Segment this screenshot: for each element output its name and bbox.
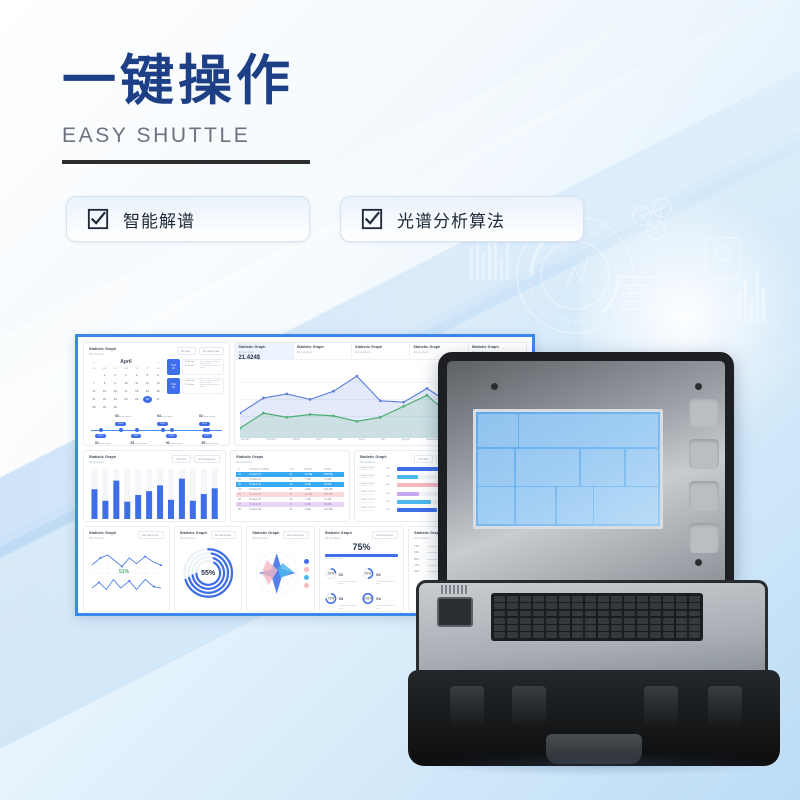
calendar-filter-stars[interactable]: All stars <box>177 347 196 355</box>
bar-card-title: Statistic Graph <box>89 455 116 459</box>
pct-card-title: Statistic Graph <box>325 531 352 535</box>
lid-rib-1 <box>689 397 719 427</box>
calendar-filter-categories[interactable]: All categories <box>199 347 225 355</box>
dow-tue: tue <box>110 367 120 370</box>
keyboard-key[interactable] <box>689 603 700 609</box>
timeline-node[interactable] <box>170 428 174 432</box>
keyboard-key[interactable] <box>494 618 505 624</box>
timeline-node[interactable] <box>203 428 207 432</box>
kpi-number: 04 <box>376 596 380 601</box>
timeline-caption: 05 lorem ipsum <box>202 441 218 445</box>
keyboard-key[interactable] <box>559 618 570 624</box>
pct-filter[interactable]: All categories <box>372 531 398 539</box>
calendar-day[interactable]: 5 <box>143 372 153 379</box>
lid-screw-bottom <box>695 559 702 566</box>
kpi-grid: 25%01Lorem ipsum dolor sit amet50%02Lore… <box>325 563 398 611</box>
bar-chart-card: Statistic Graph All members All stars Al… <box>83 450 226 522</box>
keyboard-key[interactable] <box>598 625 609 631</box>
hbar-pct: 78% <box>386 468 395 470</box>
calendar-day <box>89 372 99 379</box>
lid-rib-2 <box>689 439 719 469</box>
calendar-day[interactable]: 26 <box>143 396 153 403</box>
calendar-card-subtitle: All members <box>89 352 116 356</box>
rugged-case-laptop <box>408 352 800 772</box>
lid-rib-3 <box>689 481 719 511</box>
keyboard-key[interactable] <box>494 625 505 631</box>
mini-pane-calendar <box>478 414 518 447</box>
title-underline <box>62 160 310 164</box>
keyboard-key[interactable] <box>689 611 700 617</box>
keyboard-key[interactable] <box>507 596 518 602</box>
keyboard-key[interactable] <box>598 603 609 609</box>
keyboard-key[interactable] <box>663 603 674 609</box>
keyboard-key[interactable] <box>559 625 570 631</box>
calendar-event-2[interactable]: TUE 26 10.00 am Pick up your parents fro… <box>167 378 224 394</box>
keyboard-row <box>494 611 700 617</box>
keyboard-key[interactable] <box>598 611 609 617</box>
keyboard-key[interactable] <box>507 603 518 609</box>
keyboard-key[interactable] <box>624 618 635 624</box>
event-badge-num: 26 <box>172 367 175 370</box>
calendar-card: Statistic Graph All members All stars Al… <box>83 342 230 446</box>
calendar-day[interactable]: 8 <box>100 380 110 387</box>
keyboard-key[interactable] <box>689 625 700 631</box>
big-percentage-value: 75% <box>325 542 398 552</box>
hbar-pct: 33% <box>386 476 395 478</box>
calendar-day[interactable]: 14 <box>89 388 99 395</box>
keyboard-key[interactable] <box>507 618 518 624</box>
calendar-day[interactable]: 2 <box>110 372 120 379</box>
timeline-caption: 04 lorem ipsum <box>157 414 173 418</box>
calendar-events: TUE 26 10.00 am Pick up your parents fro… <box>167 359 224 411</box>
dow-sun: sun <box>89 367 99 370</box>
kpi-text: Lorem ipsum dolor sit amet <box>376 605 398 610</box>
timeline-pill: 2019 <box>166 434 177 438</box>
keyboard-key[interactable] <box>533 618 544 624</box>
bar-filter-stars[interactable]: All stars <box>172 455 191 463</box>
touchpad[interactable] <box>437 597 473 627</box>
event-date-badge: TUE 26 <box>167 378 180 394</box>
ring-card-subtitle: All members <box>180 536 207 540</box>
keyboard-key[interactable] <box>533 603 544 609</box>
keyboard-key[interactable] <box>572 603 583 609</box>
mini-pane-hbars <box>581 449 624 486</box>
calendar-day <box>121 404 131 411</box>
percentage-kpi-card: Statistic Graph All members All categori… <box>319 526 404 612</box>
hbar-label: LOREM IPSUMDolor sit amet <box>360 491 384 497</box>
keyboard-key[interactable] <box>611 603 622 609</box>
radar-filter[interactable]: All categories <box>283 531 309 539</box>
keyboard-key[interactable] <box>611 632 622 638</box>
keyboard-key[interactable] <box>650 632 661 638</box>
stat-card-4-title: Statistic Graph <box>413 345 464 349</box>
keyboard-key[interactable] <box>650 611 661 617</box>
table-body[interactable]: 01Product 012012.00$240.00$02Product 021… <box>236 472 343 512</box>
ring-pct-label: 55% <box>180 542 237 604</box>
stat-card-2[interactable]: Statistic Graph All members <box>294 343 352 359</box>
table-card-title: Statistic Graph <box>236 455 263 459</box>
keyboard-key[interactable] <box>598 596 609 602</box>
keyboard-key[interactable] <box>507 625 518 631</box>
kpi-item: 50%02Lorem ipsum dolor sit amet <box>362 563 398 586</box>
stat-card-1[interactable]: Statistic Graph All members 21.424$ <box>235 343 293 359</box>
keyboard-key[interactable] <box>611 611 622 617</box>
keyboard-key[interactable] <box>624 596 635 602</box>
calendar-next-button[interactable]: › <box>158 360 159 365</box>
lid-rib-4 <box>689 523 719 553</box>
lid-screw-right <box>695 383 702 390</box>
keyboard-key[interactable] <box>494 611 505 617</box>
case-latch-mid-left[interactable] <box>512 686 546 726</box>
keyboard-key[interactable] <box>546 611 557 617</box>
keyboard-key[interactable] <box>624 611 635 617</box>
calendar-day[interactable]: 3 <box>121 372 131 379</box>
calendar-day <box>132 404 142 411</box>
keyboard-key[interactable] <box>520 625 531 631</box>
calendar-day[interactable]: 27 <box>153 396 163 403</box>
dow-wed: wed <box>121 367 131 370</box>
calendar-day[interactable]: 29 <box>100 404 110 411</box>
bar <box>146 491 152 519</box>
timeline-pill: 2019 <box>157 422 168 426</box>
calendar-day[interactable]: 10 <box>121 380 131 387</box>
radar-legend-dot-3 <box>304 575 309 580</box>
spark-filter[interactable]: All categories <box>138 531 164 539</box>
bar <box>91 489 97 519</box>
mini-pane-table <box>516 449 580 486</box>
timeline-pill: 2019 <box>115 422 126 426</box>
case-latch-right[interactable] <box>708 686 742 726</box>
bar-filter-categories[interactable]: All categories <box>194 455 220 463</box>
calendar-day[interactable]: 13 <box>153 380 163 387</box>
event-time-2: 11.00 am <box>185 365 197 369</box>
kpi-ring-icon: 100% <box>362 592 374 605</box>
calendar-card-title: Statistic Graph <box>89 347 116 351</box>
keyboard-row <box>494 596 700 602</box>
keyboard-key[interactable] <box>637 611 648 617</box>
radar-legend-dot-2 <box>304 567 309 572</box>
mini-pane-kpi <box>557 487 593 524</box>
calendar-day[interactable]: 20 <box>153 388 163 395</box>
keyboard-key[interactable] <box>520 596 531 602</box>
timeline-caption: 03 lorem ipsum <box>115 414 131 418</box>
calendar-day[interactable]: 24 <box>121 396 131 403</box>
keyboard-key[interactable] <box>585 618 596 624</box>
mini-pane-bars <box>478 449 514 486</box>
calendar-day[interactable]: 22 <box>100 396 110 403</box>
kpi-item: 75%03Lorem ipsum dolor sit amet <box>325 587 361 610</box>
event-date-badge: TUE 26 <box>167 359 180 375</box>
keyboard-key[interactable] <box>533 625 544 631</box>
feature-pill-2-label: 光谱分析算法 <box>397 207 505 232</box>
bar <box>201 494 207 519</box>
case-latch-left[interactable] <box>450 686 484 726</box>
timeline-node[interactable] <box>161 428 165 432</box>
keyboard-key[interactable] <box>572 632 583 638</box>
calendar-day[interactable]: 21 <box>89 396 99 403</box>
bar <box>102 501 108 519</box>
timeline-caption: 02 lorem ipsum <box>199 414 215 418</box>
calendar-day[interactable]: 9 <box>110 380 120 387</box>
keyboard-key[interactable] <box>572 611 583 617</box>
keyboard-key[interactable] <box>520 632 531 638</box>
keyboard-key[interactable] <box>676 618 687 624</box>
keyboard-key[interactable] <box>598 618 609 624</box>
calendar-day-grid[interactable]: 1234567891011121314151617181920212223242… <box>89 372 163 411</box>
calendar-day[interactable]: 6 <box>153 372 163 379</box>
keyboard-key[interactable] <box>520 618 531 624</box>
table-card-subtitle: All members <box>236 460 263 464</box>
keyboard-key[interactable] <box>507 632 518 638</box>
pct-caption: Lorem ipsum dolor <box>325 558 398 560</box>
keyboard-key[interactable] <box>676 625 687 631</box>
keyboard-key[interactable] <box>585 603 596 609</box>
keyboard-row <box>494 603 700 609</box>
keyboard-key[interactable] <box>520 611 531 617</box>
calendar-day[interactable]: 23 <box>110 396 120 403</box>
svg-text:25%: 25% <box>327 572 334 576</box>
calendar-timeline: 201901 lorem ipsum201903 lorem ipsum2019… <box>89 413 224 446</box>
radar-chart-card: Statistic Graph All members All categori… <box>246 526 315 612</box>
calendar-widget[interactable]: ‹ April › sun mon tue wed thu fri sat 12… <box>89 359 163 411</box>
keyboard-key[interactable] <box>559 596 570 602</box>
kpi-ring-icon: 25% <box>325 567 337 580</box>
keyboard-key[interactable] <box>507 611 518 617</box>
calendar-day[interactable]: 30 <box>110 404 120 411</box>
feature-pill-1[interactable]: 智能解谱 <box>66 196 310 242</box>
keyboard-key[interactable] <box>598 632 609 638</box>
calendar-day[interactable]: 16 <box>110 388 120 395</box>
keyboard-key[interactable] <box>637 632 648 638</box>
keyboard-key[interactable] <box>650 625 661 631</box>
bar <box>135 495 141 519</box>
calendar-day <box>143 404 153 411</box>
stat-card-3-subtitle: All members <box>355 350 406 354</box>
keyboard-key[interactable] <box>585 596 596 602</box>
keyboard-key[interactable] <box>650 618 661 624</box>
calendar-day[interactable]: 17 <box>121 388 131 395</box>
hbar-label: LOREM IPSUMDolor sit amet <box>360 467 384 473</box>
keyboard-key[interactable] <box>533 611 544 617</box>
keyboard-key[interactable] <box>624 632 635 638</box>
keyboard-key[interactable] <box>494 603 505 609</box>
timeline-node[interactable] <box>119 428 123 432</box>
bar <box>212 488 218 519</box>
bar <box>157 485 163 519</box>
spark-card-subtitle: All members <box>89 536 116 540</box>
radar-card-title: Statistic Graph <box>252 531 279 535</box>
calendar-prev-button[interactable]: ‹ <box>93 360 94 365</box>
kpi-text: Lorem ipsum dolor sit amet <box>339 605 361 610</box>
keyboard-key[interactable] <box>689 632 700 638</box>
keyboard-key[interactable] <box>572 596 583 602</box>
kpi-text: Lorem ipsum dolor sit amet <box>376 581 398 586</box>
mini-pane-line-chart <box>519 414 658 447</box>
keyboard-key[interactable] <box>572 618 583 624</box>
svg-text:50%: 50% <box>365 572 372 576</box>
timeline-pill: 2019 <box>199 422 210 426</box>
keyboard-key[interactable] <box>676 603 687 609</box>
radar-card-subtitle: All members <box>252 536 279 540</box>
calendar-day[interactable]: 1 <box>100 372 110 379</box>
calendar-event-1[interactable]: TUE 26 10.00 am Pick up your parents fro… <box>167 359 224 375</box>
spark-pct-label: 51% <box>119 569 129 575</box>
calendar-day[interactable]: 15 <box>100 388 110 395</box>
keyboard-key[interactable] <box>585 611 596 617</box>
keyboard-key[interactable] <box>663 618 674 624</box>
hbar-pct: 62% <box>386 509 395 511</box>
keyboard-key[interactable] <box>559 611 570 617</box>
keyboard-key[interactable] <box>585 625 596 631</box>
keyboard-key[interactable] <box>624 603 635 609</box>
table-row[interactable]: 08Product 08404.80$192.00$ <box>236 507 343 512</box>
feature-pill-1-label: 智能解谱 <box>123 207 195 232</box>
calendar-day[interactable]: 11 <box>132 380 142 387</box>
keyboard-key[interactable] <box>663 632 674 638</box>
hbar-card-title: Statistic Graph <box>360 455 387 459</box>
checkbox-checked-icon <box>87 208 109 230</box>
case-latch-mid-right[interactable] <box>644 686 678 726</box>
keyboard-key[interactable] <box>611 618 622 624</box>
keyboard-key[interactable] <box>533 632 544 638</box>
page-title: 一键操作 <box>62 52 310 110</box>
timeline-pill: 2019 <box>131 434 142 438</box>
keyboard-key[interactable] <box>611 625 622 631</box>
table-cell: 08 <box>236 507 247 512</box>
bar <box>168 500 174 519</box>
stat-card-3-title: Statistic Graph <box>355 345 406 349</box>
keyboard-key[interactable] <box>611 596 622 602</box>
keyboard[interactable] <box>491 593 703 641</box>
svg-text:100%: 100% <box>364 597 372 601</box>
table-cell: 192.00$ <box>322 507 344 512</box>
calendar-day[interactable]: 28 <box>89 404 99 411</box>
ring-filter[interactable]: All categories <box>211 531 237 539</box>
case-shell <box>408 670 780 766</box>
keyboard-key[interactable] <box>494 596 505 602</box>
bar-card-subtitle: All members <box>89 460 116 464</box>
calendar-month-label: April <box>120 359 131 365</box>
hbar-label: LOREM IPSUMDolor sit amet <box>360 475 384 481</box>
kpi-text: Lorem ipsum dolor sit amet <box>339 581 361 586</box>
kpi-item: 100%04Lorem ipsum dolor sit amet <box>362 587 398 610</box>
keyboard-key[interactable] <box>676 611 687 617</box>
kpi-number: 03 <box>339 596 343 601</box>
keyboard-key[interactable] <box>689 618 700 624</box>
table-cell: Product 08 <box>248 507 288 512</box>
bar <box>179 479 185 519</box>
event-badge-num: 26 <box>172 386 175 389</box>
radar-legend-dot-1 <box>304 559 309 564</box>
timeline-caption: 03 lorem ipsum <box>131 441 147 445</box>
calendar-day <box>153 404 163 411</box>
keyboard-key[interactable] <box>624 625 635 631</box>
feature-pill-group: 智能解谱 光谱分析算法 <box>66 196 584 242</box>
laptop-screen[interactable] <box>473 409 663 529</box>
stat-card-1-subtitle: All members <box>238 350 289 354</box>
keyboard-key[interactable] <box>663 611 674 617</box>
keyboard-key[interactable] <box>637 603 648 609</box>
hero-headline: 一键操作 EASY SHUTTLE <box>62 52 310 164</box>
percentage-progress-bar <box>325 554 398 557</box>
hbar-pct: 52% <box>386 501 395 503</box>
mini-pane-donut <box>626 449 658 486</box>
timeline-node[interactable] <box>99 428 103 432</box>
keyboard-key[interactable] <box>546 596 557 602</box>
keyboard-key[interactable] <box>585 632 596 638</box>
keyboard-key[interactable] <box>546 625 557 631</box>
dow-sat: sat <box>153 367 163 370</box>
feature-pill-2[interactable]: 光谱分析算法 <box>340 196 584 242</box>
keyboard-key[interactable] <box>546 632 557 638</box>
keyboard-key[interactable] <box>572 625 583 631</box>
keyboard-key[interactable] <box>546 603 557 609</box>
keyboard-key[interactable] <box>533 596 544 602</box>
keyboard-key[interactable] <box>637 618 648 624</box>
calendar-day[interactable]: 12 <box>143 380 153 387</box>
data-table: #PRODUCT NAMEQTYPRICETOTAL 01Product 012… <box>236 467 343 512</box>
keyboard-row <box>494 618 700 624</box>
spark-card-title: Statistic Graph <box>89 531 116 535</box>
keyboard-key[interactable] <box>559 632 570 638</box>
keyboard-key[interactable] <box>494 632 505 638</box>
kpi-number: 01 <box>339 572 343 577</box>
calendar-day[interactable]: 25 <box>132 396 142 403</box>
calendar-day[interactable]: 19 <box>143 388 153 395</box>
device-shadow <box>418 754 778 776</box>
stat-card-2-title: Statistic Graph <box>297 345 348 349</box>
calendar-day[interactable]: 4 <box>132 372 142 379</box>
timeline-node[interactable] <box>135 428 139 432</box>
mini-pane-funnel <box>594 487 658 524</box>
mini-pane-radar <box>516 487 556 524</box>
keyboard-key[interactable] <box>520 603 531 609</box>
keyboard-key[interactable] <box>546 618 557 624</box>
bar <box>113 481 119 519</box>
stat-card-1-title: Statistic Graph <box>238 345 289 349</box>
event-text-2: Lorem ipsum dolor sit amet <box>200 365 221 369</box>
table-cell: 40 <box>287 507 302 512</box>
calendar-day[interactable]: 7 <box>89 380 99 387</box>
keyboard-key[interactable] <box>559 603 570 609</box>
calendar-day[interactable]: 18 <box>132 388 142 395</box>
lid-screw-left <box>491 383 498 390</box>
keyboard-key[interactable] <box>650 603 661 609</box>
laptop-lid <box>438 352 734 596</box>
keyboard-key[interactable] <box>663 596 674 602</box>
hbar-label: LOREM IPSUMDolor sit amet <box>360 499 384 505</box>
base-vent <box>441 585 469 594</box>
stat-card-5-title: Statistic Graph <box>472 345 523 349</box>
timeline-pill: 2019 <box>202 434 213 438</box>
radar-chart-svg <box>252 542 302 604</box>
pct-card-subtitle: All members <box>325 536 352 540</box>
keyboard-key[interactable] <box>637 625 648 631</box>
ring-chart-card: Statistic Graph All members All categori… <box>174 526 243 612</box>
hbar-label: LOREM IPSUMDolor sit amet <box>360 507 384 513</box>
event-text-2: Lorem ipsum dolor sit amet <box>200 384 221 388</box>
stat-card-2-subtitle: All members <box>297 350 348 354</box>
stat-card-3[interactable]: Statistic Graph All members <box>352 343 410 359</box>
keyboard-key[interactable] <box>650 596 661 602</box>
keyboard-key[interactable] <box>676 596 687 602</box>
keyboard-key[interactable] <box>637 596 648 602</box>
calendar-dow-row: sun mon tue wed thu fri sat <box>89 367 163 370</box>
keyboard-key[interactable] <box>689 596 700 602</box>
keyboard-key[interactable] <box>676 632 687 638</box>
keyboard-key[interactable] <box>663 625 674 631</box>
sparkline-card: Statistic Graph All members All categori… <box>83 526 170 612</box>
